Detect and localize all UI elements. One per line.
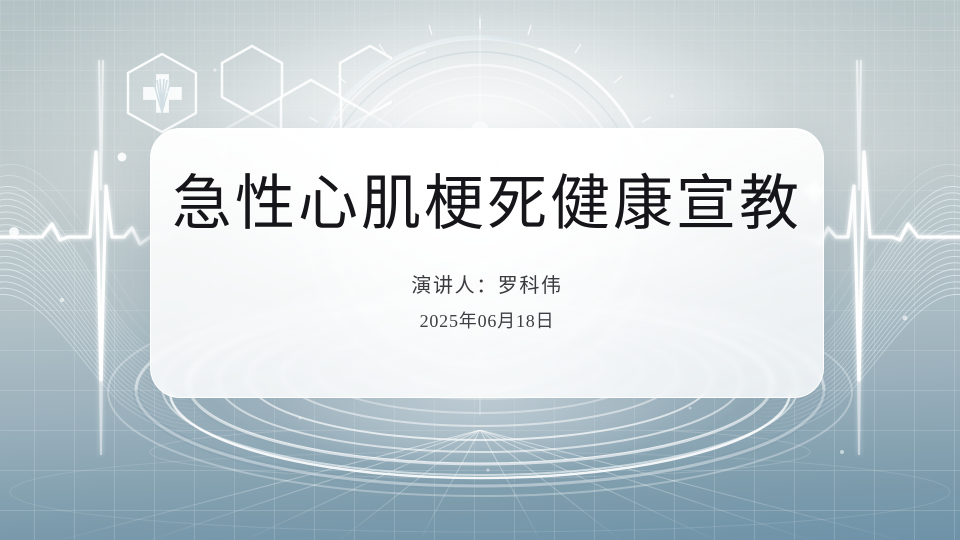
- presentation-slide: 急性心肌梗死健康宣教 演讲人：罗科伟 2025年06月18日: [0, 0, 960, 540]
- slide-title: 急性心肌梗死健康宣教: [172, 173, 802, 235]
- event-date-label: 2025年06月18日: [411, 307, 562, 333]
- title-card-content: 急性心肌梗死健康宣教 演讲人：罗科伟 2025年06月18日: [151, 129, 823, 397]
- subtitle-block: 演讲人：罗科伟 2025年06月18日: [411, 269, 562, 333]
- presenter-label: 演讲人：罗科伟: [411, 269, 562, 298]
- title-card: 急性心肌梗死健康宣教 演讲人：罗科伟 2025年06月18日: [150, 128, 824, 398]
